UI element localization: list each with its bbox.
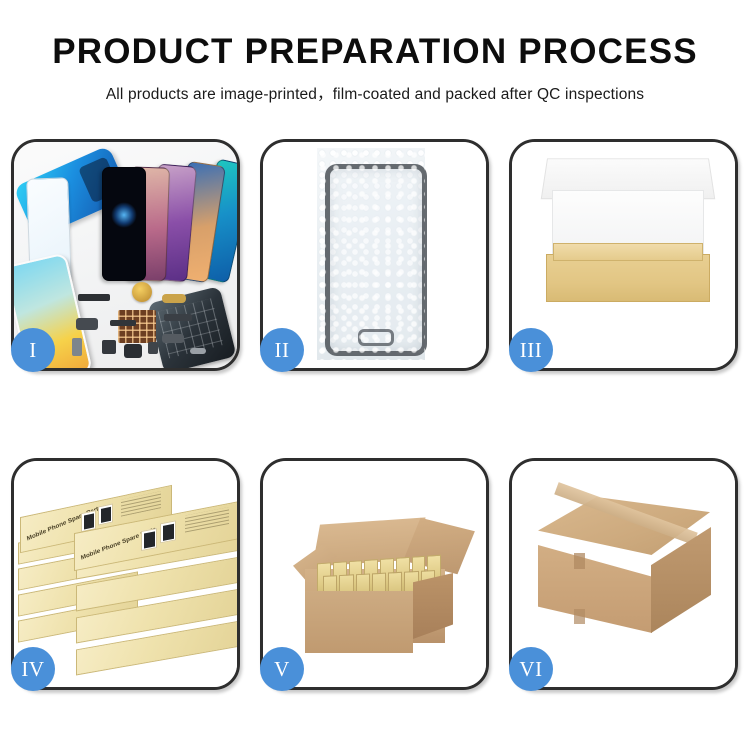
carton-front-face-icon	[305, 591, 413, 653]
step-badge-1: I	[11, 328, 55, 372]
box-phone-image-icon	[141, 528, 157, 551]
repair-part-icon	[162, 294, 186, 303]
circuit-chip-icon	[118, 310, 156, 343]
repair-part-icon	[72, 338, 82, 356]
wrapped-screen-icon	[325, 164, 427, 356]
step-badge-3: III	[509, 328, 553, 372]
page-subtitle: All products are image-printed，film-coat…	[0, 82, 750, 104]
process-step-panel-6: VI	[509, 458, 738, 690]
repair-part-icon	[102, 340, 116, 354]
speaker-coil-icon	[132, 282, 152, 302]
repair-part-icon	[78, 294, 110, 301]
step-badge-5: V	[260, 647, 304, 691]
phone-display-1-icon	[102, 167, 146, 281]
phone-display-fan	[100, 156, 237, 281]
process-step-panel-5: V	[260, 458, 489, 690]
sealed-carton-front-icon	[538, 545, 652, 633]
repair-part-icon	[190, 348, 206, 354]
repair-part-icon	[162, 334, 184, 343]
carton-edge-mark-icon	[574, 553, 585, 569]
page-header: PRODUCT PREPARATION PROCESS All products…	[0, 0, 750, 104]
page-title: PRODUCT PREPARATION PROCESS	[0, 34, 750, 69]
step-badge-4: IV	[11, 647, 55, 691]
process-step-panel-1: I	[11, 139, 240, 371]
box-phone-image-icon	[98, 503, 113, 525]
repair-part-icon	[148, 342, 158, 354]
process-step-panel-4: Mobile Phone Spare Parts Mobile Phone Sp…	[11, 458, 240, 690]
repair-part-icon	[76, 318, 98, 330]
retail-box-stack: Mobile Phone Spare Parts Mobile Phone Sp…	[18, 479, 237, 675]
carton-side-face-icon	[413, 573, 453, 639]
process-step-panel-2: II	[260, 139, 489, 371]
box-phone-image-icon	[160, 520, 176, 543]
step-badge-6: VI	[509, 647, 553, 691]
process-steps-grid: I II III	[11, 139, 739, 690]
kraft-box-tray-icon	[546, 254, 710, 302]
opened-phone-chassis-icon	[147, 286, 236, 368]
repair-part-icon	[110, 320, 136, 326]
carton-edge-mark-icon	[574, 609, 585, 624]
repair-part-icon	[124, 344, 142, 358]
process-step-panel-3: III	[509, 139, 738, 371]
repair-part-icon	[164, 314, 192, 321]
step-badge-2: II	[260, 328, 304, 372]
